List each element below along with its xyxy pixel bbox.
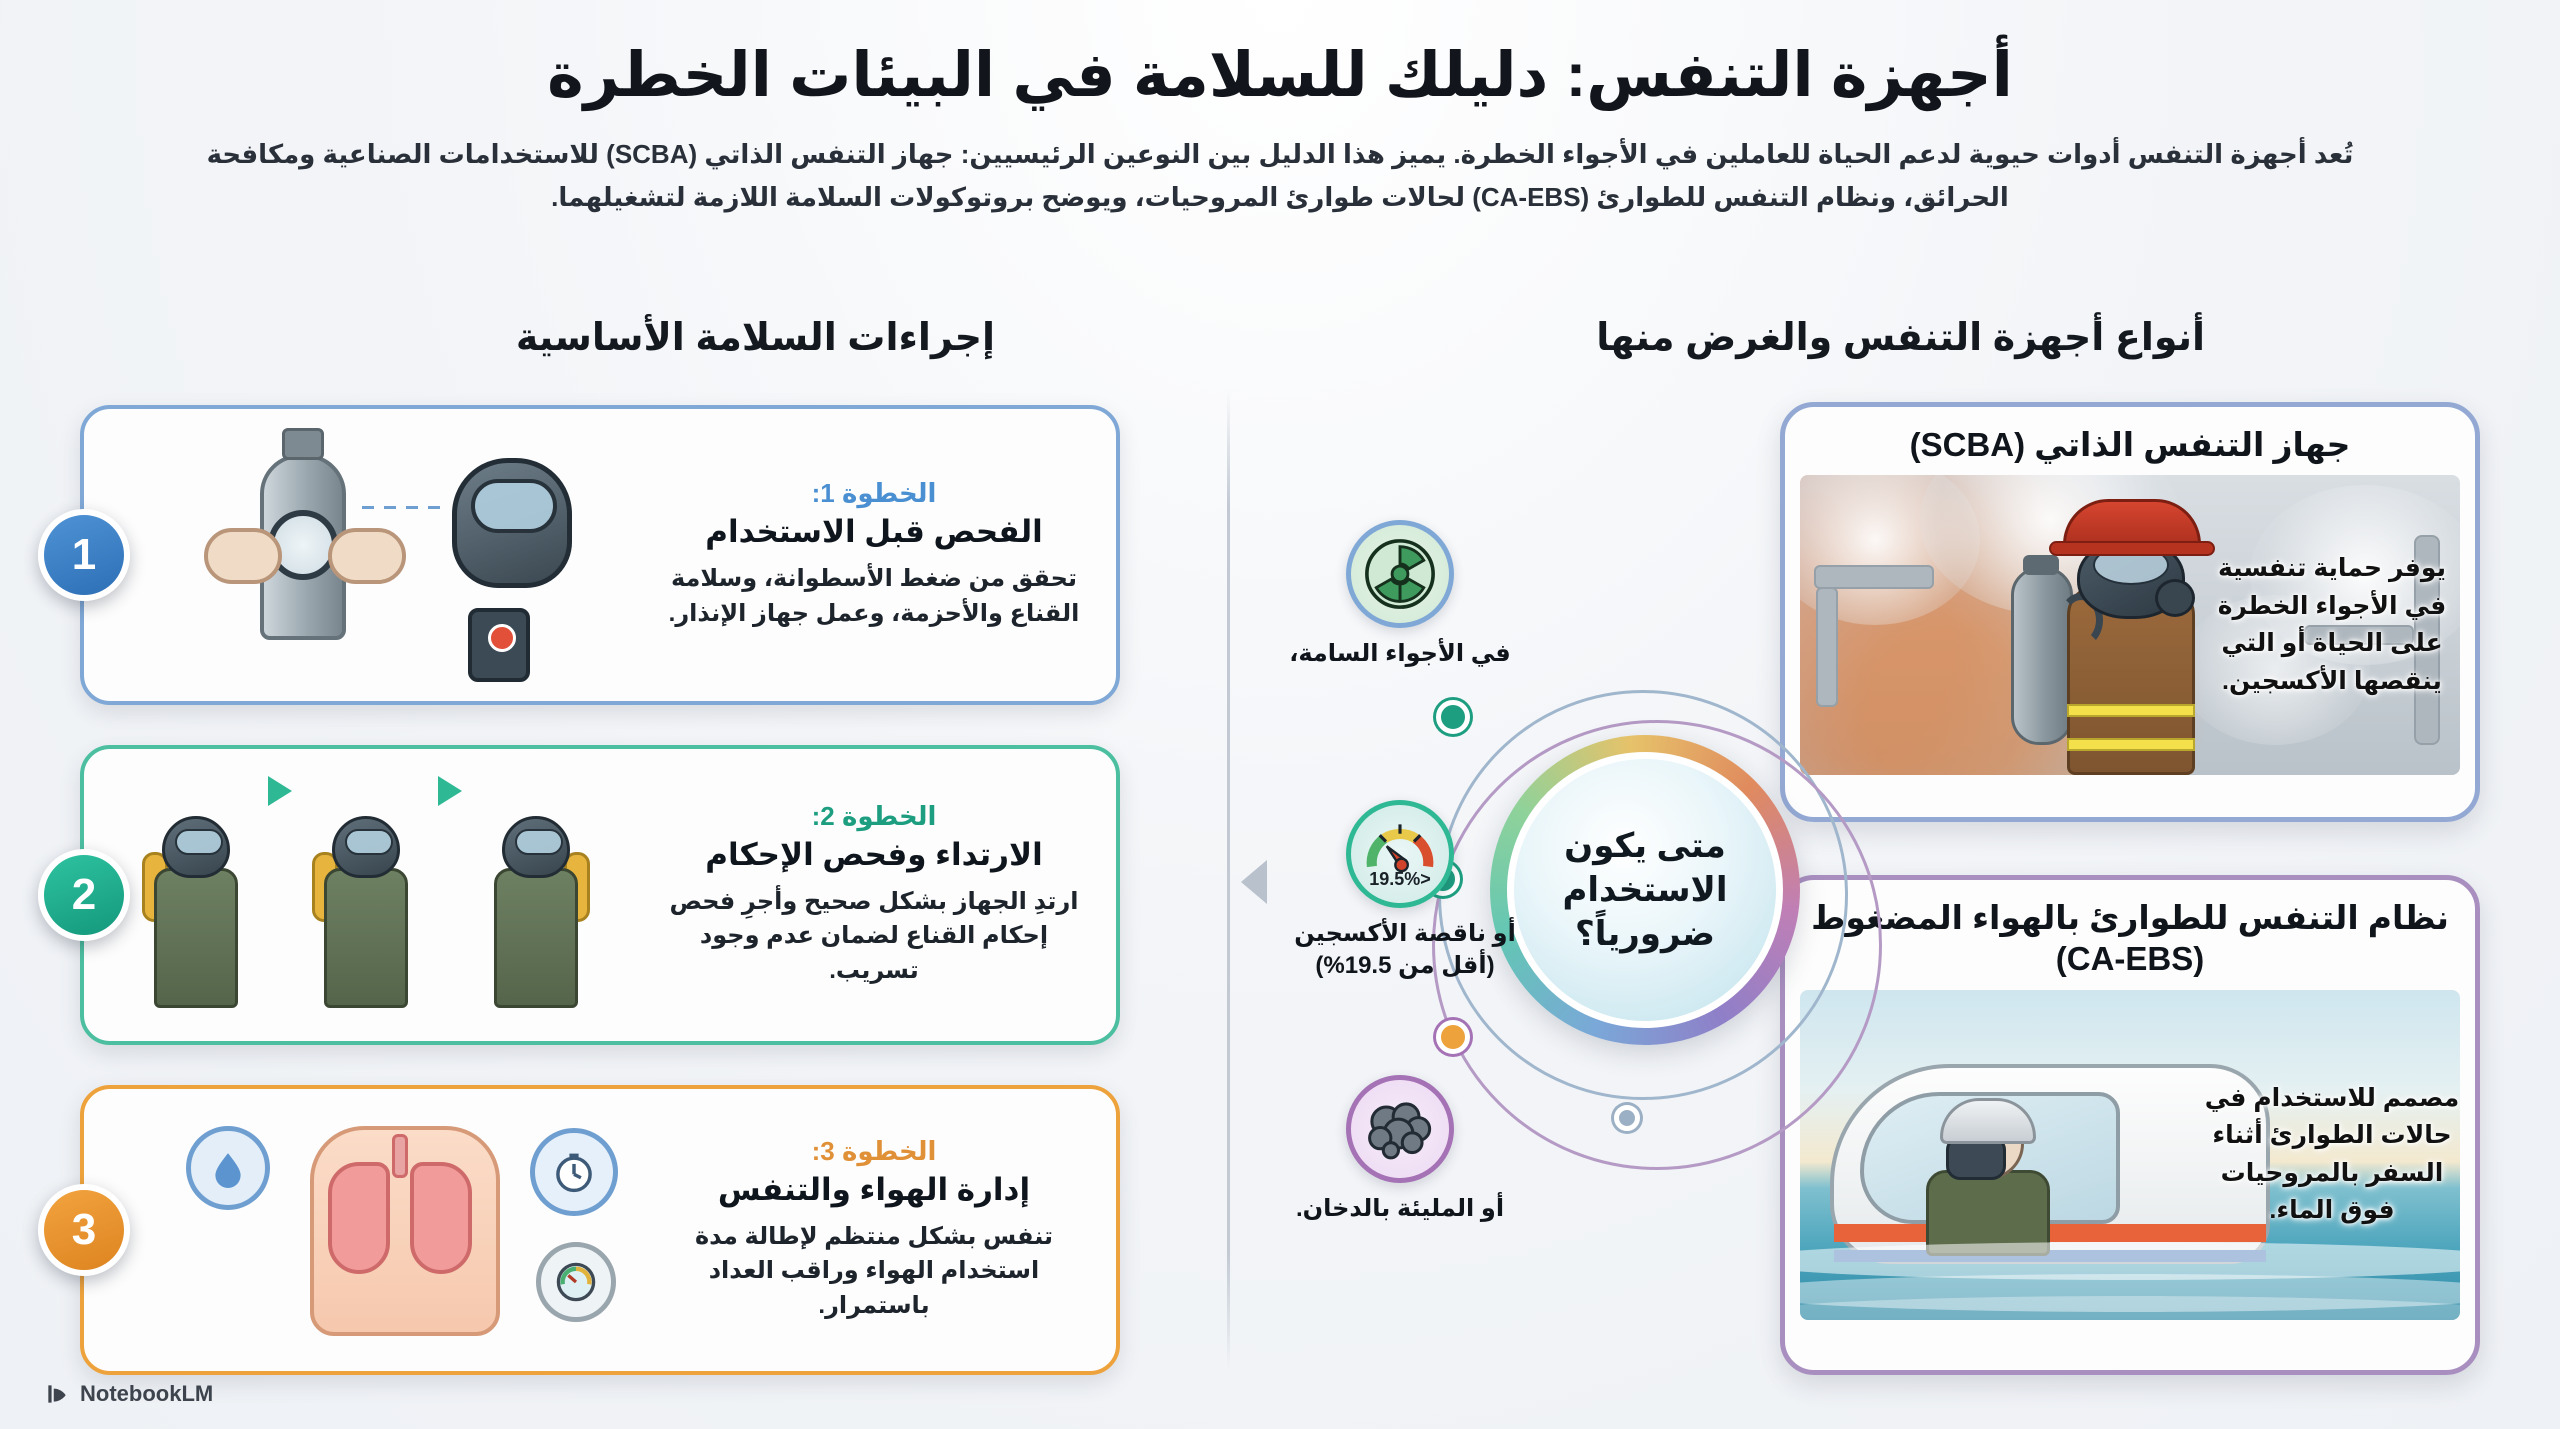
- radiation-hazard-icon: [1346, 520, 1454, 628]
- step-desc-3: تنفس بشكل منتظم لإطالة مدة استخدام الهوا…: [666, 1220, 1082, 1324]
- section-heading-devices: أنواع أجهزة التنفس والغرض منها: [1596, 315, 2205, 360]
- footer-brand: NotebookLM: [80, 1381, 213, 1407]
- hub-question: متى يكون الاستخدام ضرورياً؟: [1514, 824, 1776, 957]
- infographic-page: أجهزة التنفس: دليلك للسلامة في البيئات ا…: [0, 0, 2560, 1429]
- smoke-cloud-icon: [1346, 1075, 1454, 1183]
- section-heading-procedures: إجراءات السلامة الأساسية: [516, 315, 995, 360]
- device-text-caebs: مصمم للاستخدام في حالات الطوارئ أثناء ال…: [2197, 1080, 2467, 1230]
- branch-oxygen[interactable]: <19.5% أو ناقصة الأكسجين (أقل من 19.5%): [1280, 800, 1520, 983]
- gauge-icon: <19.5%: [1346, 800, 1454, 908]
- step-card-3[interactable]: 3 الخطوة 3: إدارة الهواء والتنفس تنفس بش…: [80, 1085, 1120, 1375]
- step-kicker-2: الخطوة 2:: [666, 801, 1082, 832]
- branch-label-oxygen: أو ناقصة الأكسجين (أقل من 19.5%): [1290, 918, 1520, 983]
- device-card-scba[interactable]: جهاز التنفس الذاتي (SCBA): [1780, 402, 2480, 822]
- branch-node-decor: [1614, 1105, 1640, 1131]
- notebooklm-logo-icon: [44, 1381, 70, 1407]
- device-body-scba: يوفر حماية تنفسية في الأجواء الخطرة على …: [1785, 475, 2475, 775]
- section-divider: [1227, 390, 1230, 1370]
- header: أجهزة التنفس: دليلك للسلامة في البيئات ا…: [0, 40, 2560, 219]
- device-text-scba: يوفر حماية تنفسية في الأجواء الخطرة على …: [2197, 550, 2467, 700]
- gauge-value: <19.5%: [1351, 869, 1449, 890]
- branch-node-smoke: [1436, 1020, 1470, 1054]
- footer: NotebookLM: [44, 1381, 213, 1407]
- branch-label-toxic: في الأجواء السامة،: [1285, 638, 1515, 670]
- step-illustration-1: [100, 432, 656, 677]
- device-body-caebs: مصمم للاستخدام في حالات الطوارئ أثناء ال…: [1785, 990, 2475, 1320]
- timer-icon: [530, 1128, 618, 1216]
- step-illustration-2: [100, 772, 656, 1017]
- step-kicker-1: الخطوة 1:: [666, 478, 1082, 509]
- step-card-2[interactable]: 2 الخطوة 2: الارتداء وفحص الإحكام ارتدِ …: [80, 745, 1120, 1045]
- step-title-3: إدارة الهواء والتنفس: [666, 1171, 1082, 1210]
- device-title-caebs: نظام التنفس للطوارئ بالهواء المضغوط (CA-…: [1785, 880, 2475, 990]
- step-card-1[interactable]: 1 الخطوة 1: الفحص قبل الاستخدام تحقق من …: [80, 405, 1120, 705]
- page-subtitle: تُعد أجهزة التنفس أدوات حيوية لدعم الحيا…: [200, 133, 2360, 219]
- branch-smoke[interactable]: أو المليئة بالدخان.: [1285, 1075, 1515, 1225]
- branch-toxic[interactable]: في الأجواء السامة،: [1285, 520, 1515, 670]
- hydration-icon: [186, 1126, 270, 1210]
- step-illustration-3: [100, 1112, 656, 1349]
- step-desc-2: ارتدِ الجهاز بشكل صحيح وأجرِ فحص إحكام ا…: [666, 885, 1082, 989]
- page-title: أجهزة التنفس: دليلك للسلامة في البيئات ا…: [0, 40, 2560, 111]
- step-desc-1: تحقق من ضغط الأسطوانة، وسلامة القناع وال…: [666, 562, 1082, 632]
- step-title-1: الفحص قبل الاستخدام: [666, 513, 1082, 552]
- hub-circle: متى يكون الاستخدام ضرورياً؟: [1490, 735, 1800, 1045]
- flow-arrow-icon: [1241, 860, 1267, 904]
- step-title-2: الارتداء وفحص الإحكام: [666, 836, 1082, 875]
- device-card-caebs[interactable]: نظام التنفس للطوارئ بالهواء المضغوط (CA-…: [1780, 875, 2480, 1375]
- step-kicker-3: الخطوة 3:: [666, 1136, 1082, 1167]
- branch-node-toxic: [1436, 700, 1470, 734]
- branch-label-smoke: أو المليئة بالدخان.: [1285, 1193, 1515, 1225]
- device-title-scba: جهاز التنفس الذاتي (SCBA): [1785, 407, 2475, 475]
- pressure-gauge-icon: [536, 1242, 616, 1322]
